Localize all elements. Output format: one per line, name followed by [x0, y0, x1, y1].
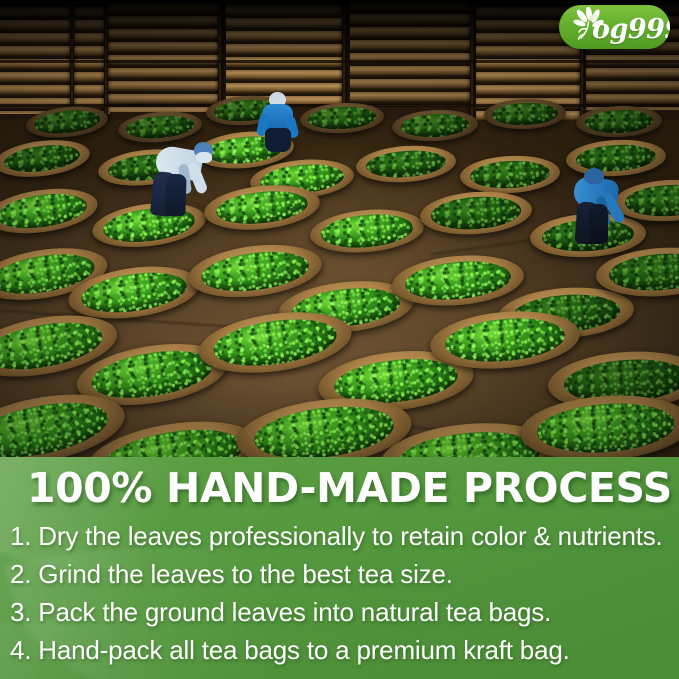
- infographic-page: og999 100% HAND-MADE PROCESS 1. Dry the …: [0, 0, 679, 679]
- worker-legs: [165, 174, 186, 217]
- brand-name: og999: [592, 14, 670, 45]
- process-step-list: 1. Dry the leaves professionally to reta…: [10, 517, 675, 669]
- page-title: 100% HAND-MADE PROCESS: [27, 464, 672, 512]
- process-step-4: 4. Hand-pack all tea bags to a premium k…: [10, 631, 675, 669]
- process-banner: 100% HAND-MADE PROCESS 1. Dry the leaves…: [0, 457, 679, 679]
- worker-legs: [589, 204, 608, 244]
- rack-shelf: [0, 60, 679, 63]
- process-step-1: 1. Dry the leaves professionally to reta…: [10, 517, 675, 555]
- tray-rack: [0, 0, 110, 114]
- worker-right: [572, 168, 644, 244]
- process-photo: og999: [0, 0, 679, 457]
- brand-logo[interactable]: og999: [559, 5, 670, 49]
- process-step-3: 3. Pack the ground leaves into natural t…: [10, 593, 675, 631]
- tray-rack: [108, 0, 220, 112]
- worker-center-left: [150, 138, 224, 216]
- process-step-2: 2. Grind the leaves to the best tea size…: [10, 555, 675, 593]
- worker-legs: [265, 128, 291, 152]
- worker-cap: [196, 152, 212, 163]
- tray-rack: [350, 0, 470, 106]
- worker-center-top: [258, 92, 298, 154]
- tray-rack: [226, 0, 344, 104]
- worker-head: [584, 168, 604, 184]
